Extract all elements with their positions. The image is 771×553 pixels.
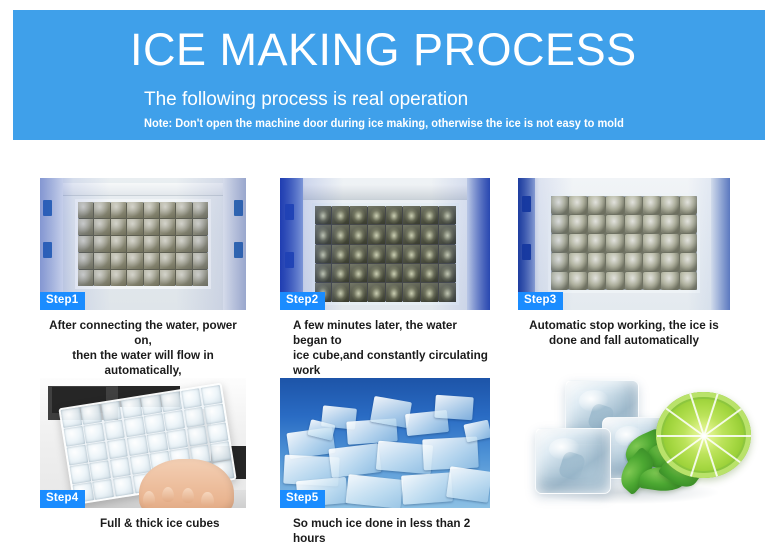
ice-machine-illustration-3 — [518, 178, 730, 310]
header-subtitle: The following process is real operation — [144, 89, 468, 111]
step-5-caption: So much ice done in less than 2 hours — [280, 516, 490, 546]
step-card-2: Step2 A few minutes later, the water beg… — [280, 178, 490, 378]
step-4-photo: Step4 — [40, 378, 246, 508]
step-5-photo: Step5 — [280, 378, 490, 508]
step-1-caption-line-1: After connecting the water, power on, — [40, 318, 246, 348]
step-5-caption-line-1: So much ice done in less than 2 hours — [293, 516, 490, 546]
step-card-5: Step5 So much ice done in less than 2 ho… — [280, 378, 490, 546]
step-1-photo: Step1 — [40, 178, 246, 310]
step-2-caption-line-1: A few minutes later, the water began to — [293, 318, 490, 348]
ice-pile-illustration — [280, 378, 490, 508]
header-banner: ICE MAKING PROCESS The following process… — [13, 10, 765, 140]
step-card-1: Step1 After connecting the water, power … — [40, 178, 246, 393]
step-3-photo: Step3 — [518, 178, 730, 310]
page-title: ICE MAKING PROCESS — [130, 27, 637, 73]
step-card-4: Step4 Full & thick ice cubes — [40, 378, 246, 531]
step-3-badge: Step3 — [518, 292, 563, 310]
step-3-caption-line-2: done and fall automatically — [518, 333, 730, 348]
step-1-caption-line-2: then the water will flow in automaticall… — [40, 348, 246, 378]
step-3-caption-line-1: Automatic stop working, the ice is — [518, 318, 730, 333]
lime-slice-icon — [656, 392, 750, 479]
ice-machine-illustration-1 — [40, 178, 246, 310]
step-5-badge: Step5 — [280, 490, 325, 508]
step-2-photo: Step2 — [280, 178, 490, 310]
hero-ice-lime-image — [520, 372, 768, 512]
step-card-3: Step3 Automatic stop working, the ice is… — [518, 178, 730, 348]
hand-tray-illustration — [40, 378, 246, 508]
step-3-caption: Automatic stop working, the ice is done … — [518, 318, 730, 348]
header-note: Note: Don't open the machine door during… — [144, 117, 624, 131]
step-2-badge: Step2 — [280, 292, 325, 310]
step-4-badge: Step4 — [40, 490, 85, 508]
ice-machine-illustration-2 — [280, 178, 490, 310]
step-4-caption-line-1: Full & thick ice cubes — [100, 516, 246, 531]
step-1-badge: Step1 — [40, 292, 85, 310]
step-2-caption-line-2: ice cube,and constantly circulating work — [293, 348, 490, 378]
ice-cube-left-icon — [535, 428, 611, 494]
step-4-caption: Full & thick ice cubes — [40, 516, 246, 531]
step-2-caption: A few minutes later, the water began to … — [280, 318, 490, 378]
